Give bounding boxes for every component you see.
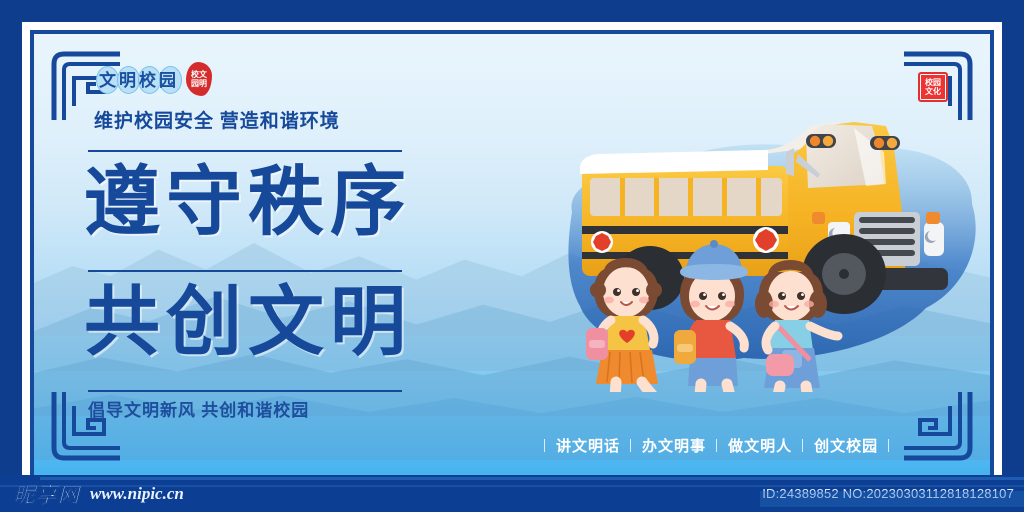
corner-ornament-bottom-right — [900, 388, 976, 464]
watermark-brand-group: 昵享网 www.nipic.cn — [0, 479, 184, 509]
tagline-separator: | — [887, 437, 891, 454]
tagline-separator: | — [543, 437, 547, 454]
tagline-item: 做文明人 — [728, 435, 792, 456]
headline-line-2: 共创文明 — [84, 282, 412, 364]
watermark-url: www.nipic.cn — [90, 484, 184, 504]
stamp-char: 园 — [191, 79, 199, 88]
bottom-subtitle: 倡导文明新风 共创和谐校园 — [88, 396, 309, 421]
poster-stage: 文明校园 校 园 文 明 维护校园安全 营造和谐环境 — [34, 34, 990, 478]
seal-char: 校 — [925, 78, 933, 87]
watermark-id-text: ID:24389852 NO:20230303112818128107 — [762, 486, 1024, 501]
tagline-separator: | — [715, 437, 719, 454]
tagline-item: 讲文明话 — [556, 435, 620, 456]
watermark-logo: 昵享网 — [14, 479, 80, 509]
stamp-char: 文 — [199, 70, 207, 79]
tagline-row: | 讲文明话 | 办文明事 | 做文明人 | 创文校园 | — [534, 435, 900, 456]
stamp-char: 校 — [191, 70, 199, 79]
school-bus-illustration — [554, 92, 984, 392]
civilized-campus-badge: 文明校园 — [96, 66, 182, 96]
poster-canvas: 文明校园 校 园 文 明 维护校园安全 营造和谐环境 — [0, 0, 1024, 512]
headline-rule-bottom — [88, 390, 402, 392]
stamp-char: 明 — [199, 79, 207, 88]
headline-rule-top — [88, 150, 402, 152]
tagline-item: 办文明事 — [642, 435, 706, 456]
headline-rule-middle — [88, 270, 402, 272]
tagline-item: 创文校园 — [814, 435, 878, 456]
civilized-campus-stamp-icon: 校 园 文 明 — [186, 62, 212, 96]
civilized-campus-badge-group: 文明校园 校 园 文 明 — [96, 66, 212, 96]
tagline-separator: | — [629, 437, 633, 454]
top-subtitle: 维护校园安全 营造和谐环境 — [94, 106, 340, 133]
badge-label: 文明校园 — [96, 67, 182, 95]
seal-char: 园 — [933, 78, 941, 87]
stamp-column-right: 文 明 — [199, 70, 207, 88]
headline-line-1: 遵守秩序 — [84, 162, 412, 244]
stamp-column-left: 校 园 — [191, 70, 199, 88]
watermark-bar: 昵享网 www.nipic.cn ID:24389852 NO:20230303… — [0, 475, 1024, 512]
tagline-separator: | — [801, 437, 805, 454]
